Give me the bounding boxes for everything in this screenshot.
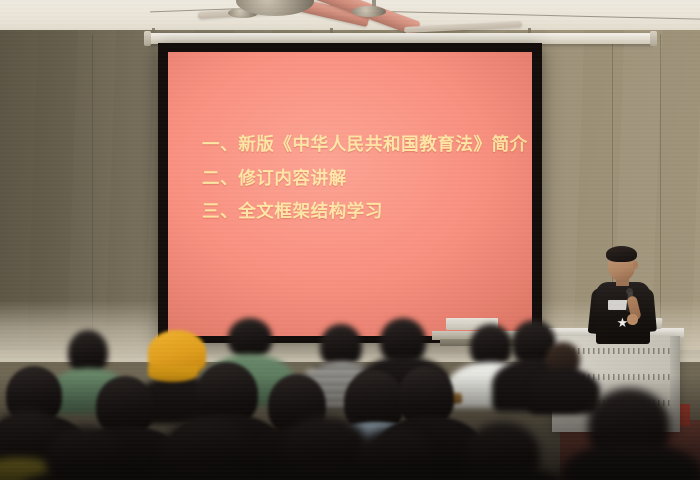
- lecture-hall-photo: 一、新版《中华人民共和国教育法》简介 二、修订内容讲解 三、全文框架结构学习 ★: [0, 0, 700, 480]
- audience: [0, 318, 700, 480]
- audience-head: [228, 318, 272, 358]
- wall-seam: [92, 34, 93, 344]
- cap-brim: [148, 366, 198, 382]
- audience-shoulders: [562, 442, 700, 480]
- slide-line-1: 一、新版《中华人民共和国教育法》简介: [202, 136, 522, 154]
- slide-line-3: 三、全文框架结构学习: [202, 203, 522, 221]
- housing-end-cap: [650, 31, 657, 46]
- slide-surface: 一、新版《中华人民共和国教育法》简介 二、修订内容讲解 三、全文框架结构学习: [168, 52, 532, 336]
- audience-shoulders: [528, 368, 600, 414]
- slide-line-2: 二、修订内容讲解: [202, 170, 522, 188]
- slide-content: 一、新版《中华人民共和国教育法》简介 二、修订内容讲解 三、全文框架结构学习: [202, 136, 522, 237]
- projection-screen: 一、新版《中华人民共和国教育法》简介 二、修订内容讲解 三、全文框架结构学习: [158, 43, 542, 343]
- presenter-hair: [606, 246, 637, 262]
- housing-end-cap: [144, 31, 151, 46]
